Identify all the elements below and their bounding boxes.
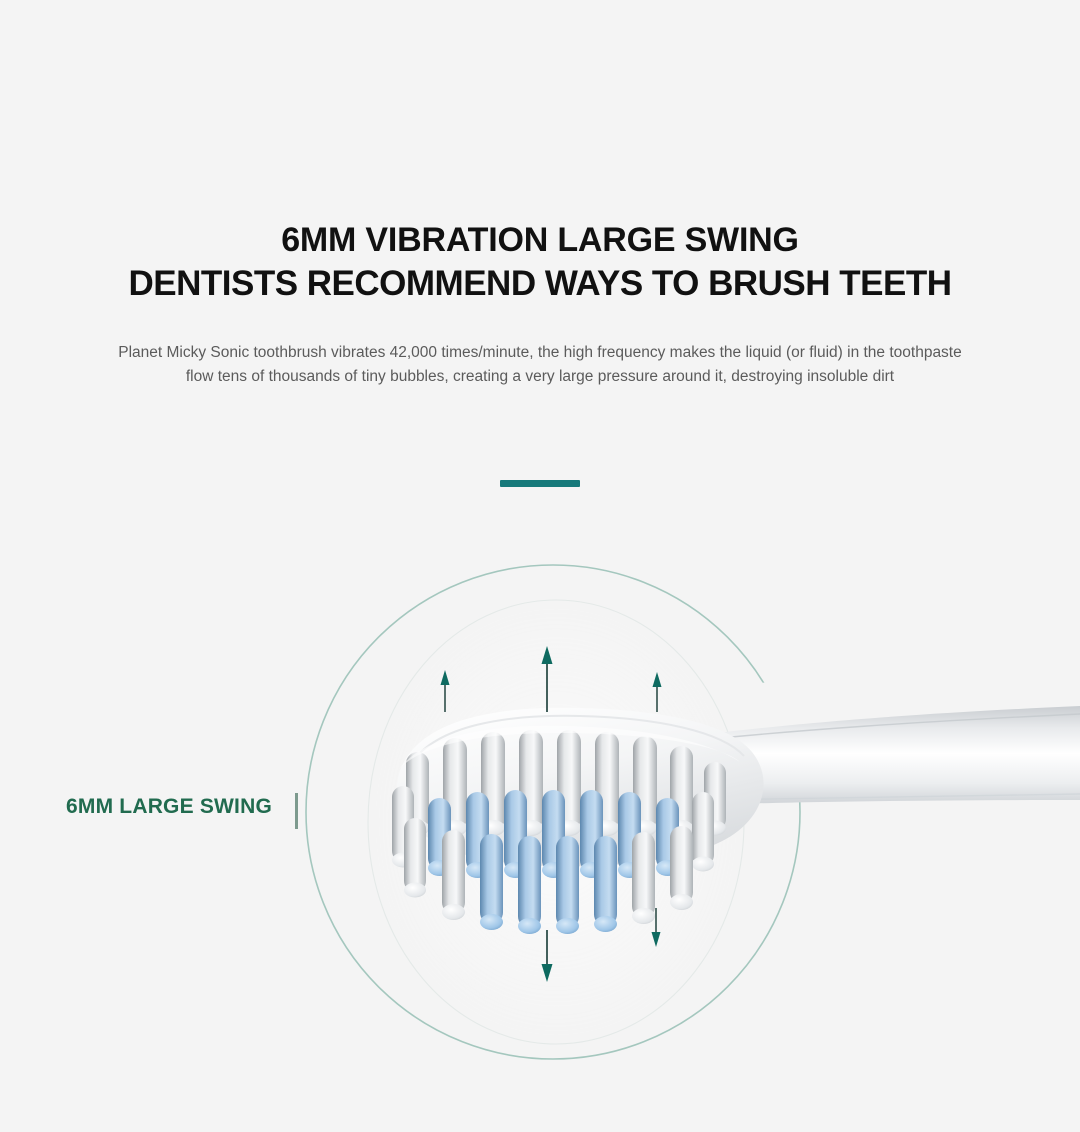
toothbrush-illustration [0,500,1080,1100]
bristle-row-middle [392,786,714,878]
product-feature-page: 6MM VIBRATION LARGE SWING DENTISTS RECOM… [0,0,1080,1132]
headline-line-1: 6MM VIBRATION LARGE SWING [0,219,1080,262]
description-paragraph: Planet Micky Sonic toothbrush vibrates 4… [110,341,970,389]
headline-line-2: DENTISTS RECOMMEND WAYS TO BRUSH TEETH [0,262,1080,305]
page-title: 6MM VIBRATION LARGE SWING DENTISTS RECOM… [0,219,1080,305]
section-divider [500,480,580,487]
toothbrush [392,706,1080,934]
